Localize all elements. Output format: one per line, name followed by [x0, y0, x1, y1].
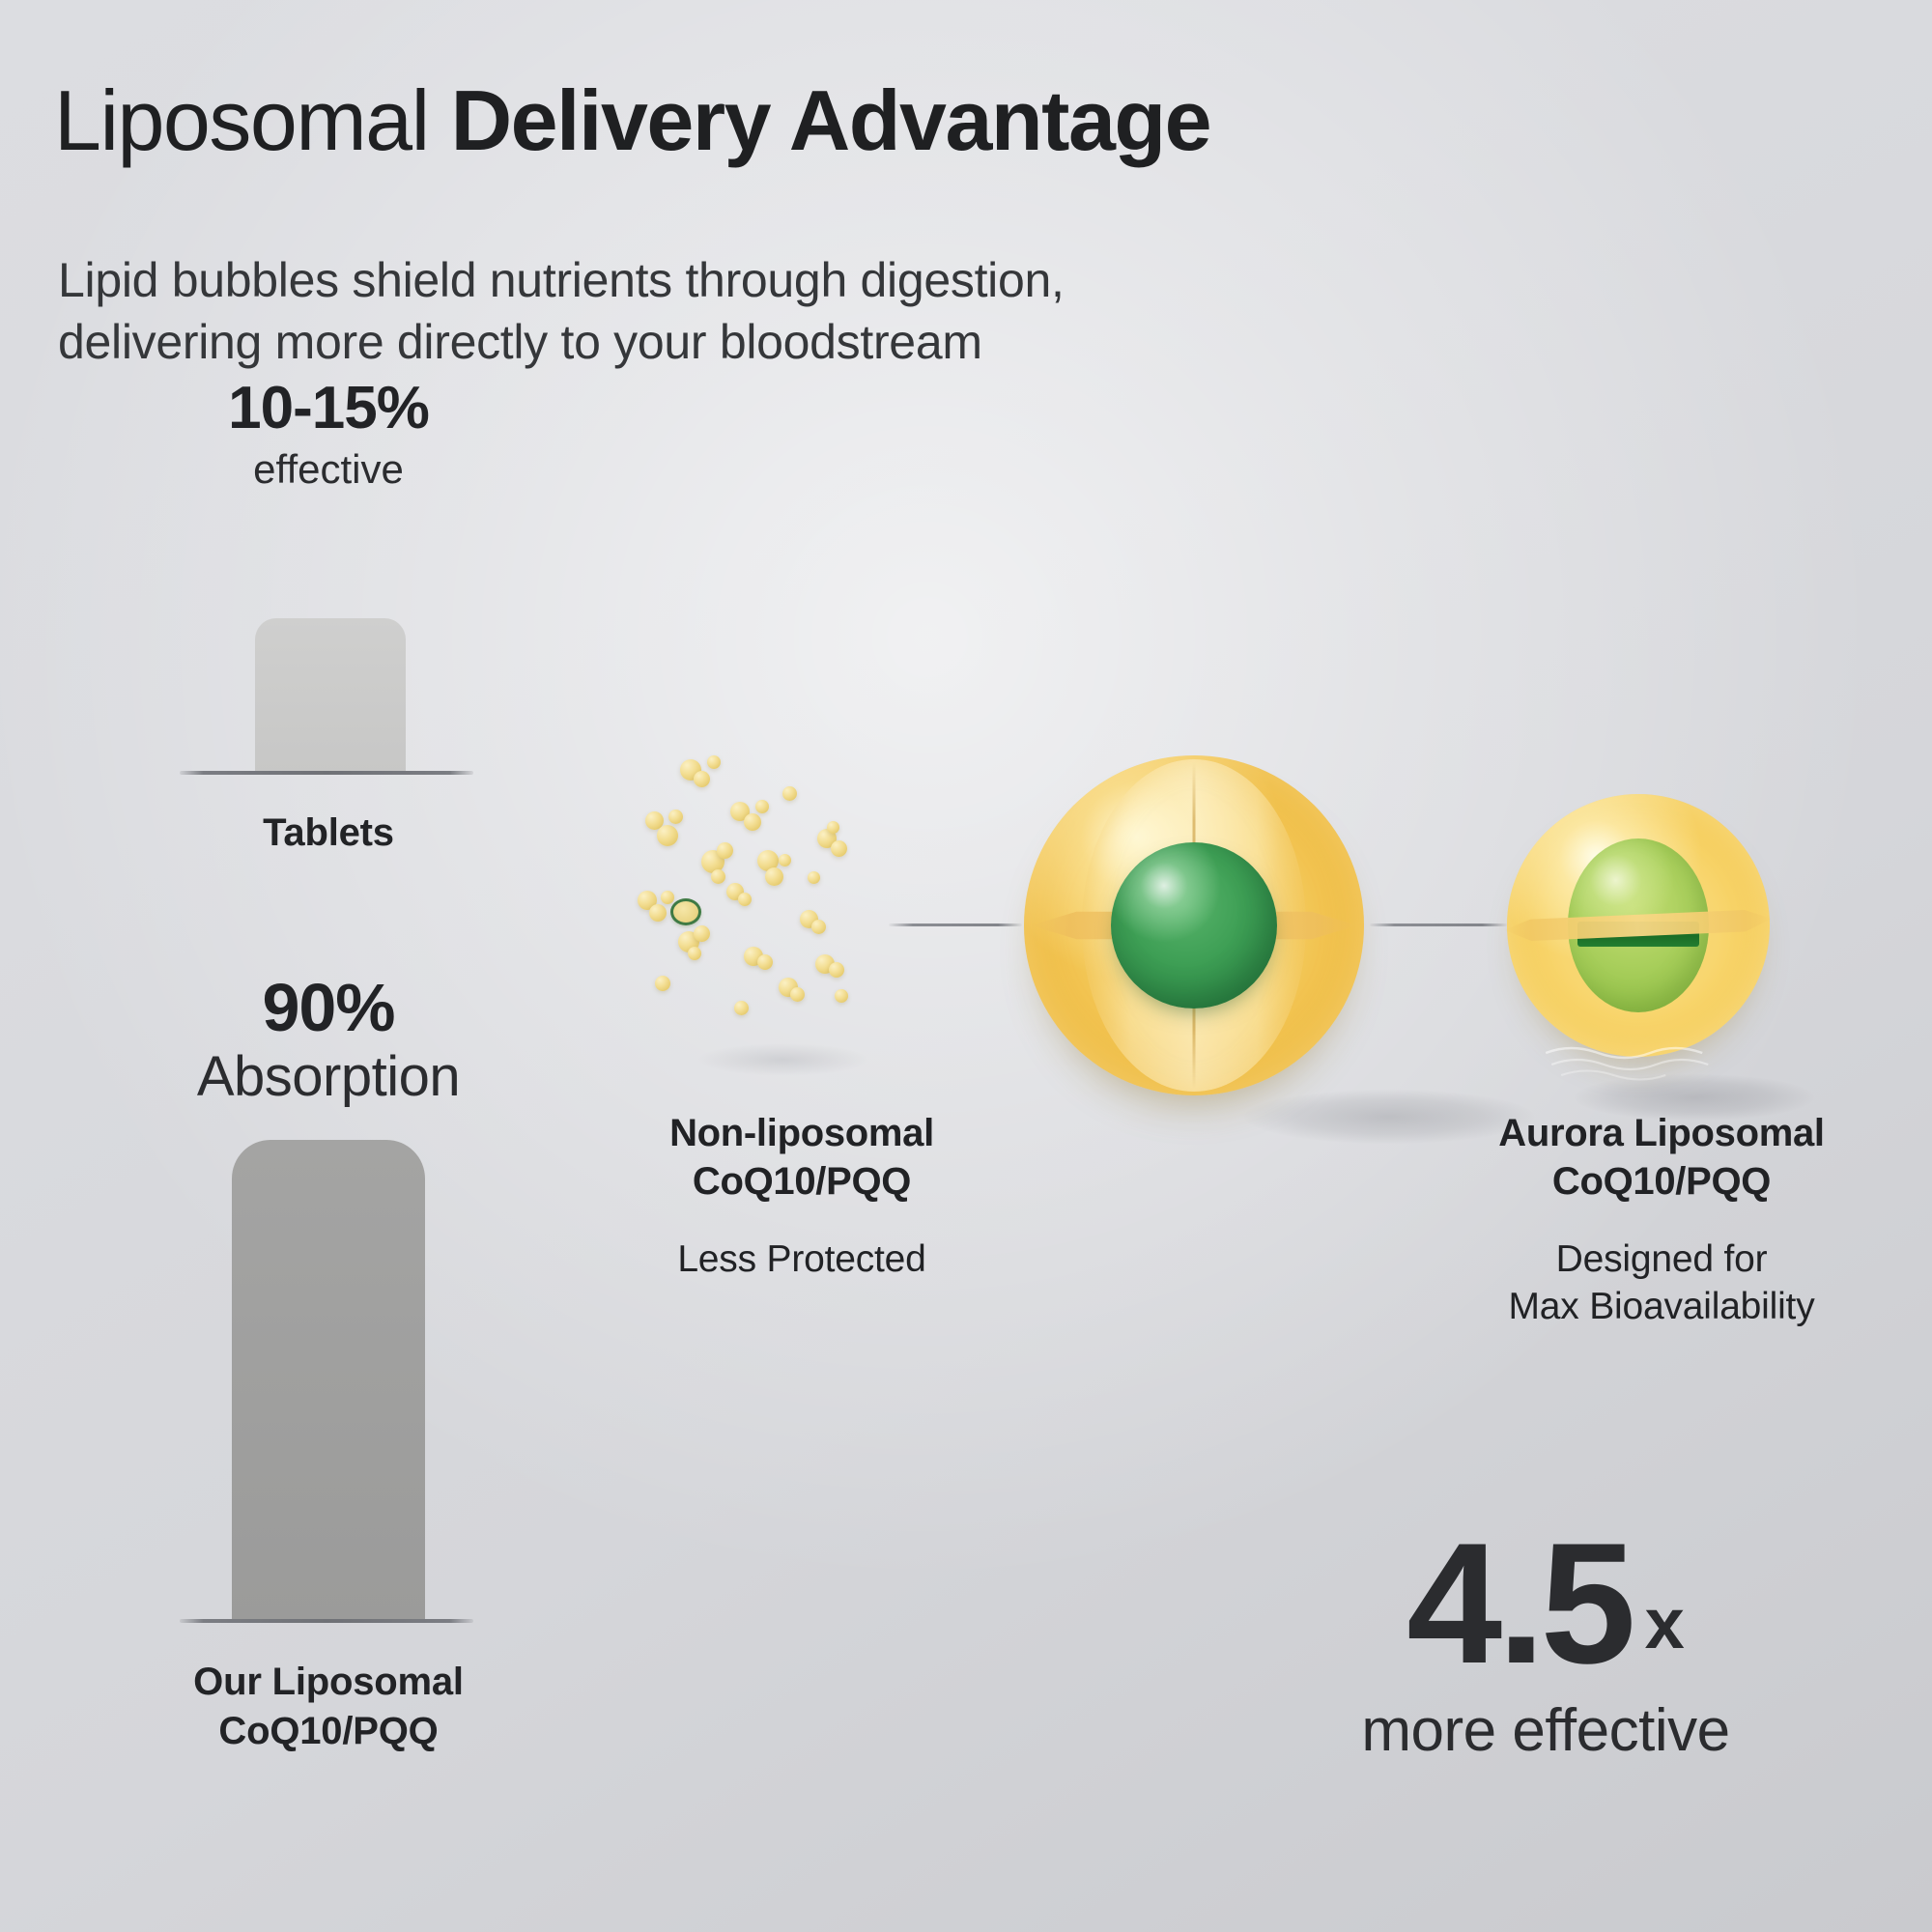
caption-aurora-heading: Aurora Liposomal CoQ10/PQQ: [1372, 1109, 1932, 1207]
caption-aurora-liposomal: Aurora Liposomal CoQ10/PQQ Designed for …: [1372, 1109, 1932, 1330]
liposomal-stat-value: 90%: [77, 974, 580, 1041]
caption-non-liposomal-body-line-1: Less Protected: [464, 1236, 1140, 1283]
bar-label-tablets-line-1: Tablets: [77, 810, 580, 856]
liposomal-stat-sublabel: Absorption: [77, 1043, 580, 1111]
caption-non-liposomal: Non-liposomal CoQ10/PQQ Less Protected: [464, 1109, 1140, 1283]
caption-non-liposomal-heading-line-1: Non-liposomal: [464, 1109, 1140, 1157]
liposome-green-core: [1111, 842, 1277, 1009]
effectiveness-row: 4.5 x: [1207, 1526, 1884, 1681]
liposomal-stat: 90% Absorption: [77, 974, 580, 1111]
caption-aurora-body-line-2: Max Bioavailability: [1372, 1283, 1932, 1330]
caption-aurora-body: Designed for Max Bioavailability: [1372, 1236, 1932, 1330]
connector-line-left: [889, 923, 1022, 926]
bar-label-liposomal-line-1: Our Liposomal: [77, 1658, 580, 1707]
infographic-canvas: Liposomal Delivery Advantage Lipid bubbl…: [0, 0, 1932, 1932]
bar-tablets: [255, 618, 406, 775]
caption-non-liposomal-heading-line-2: CoQ10/PQQ: [464, 1157, 1140, 1206]
absorption-bar-chart: 10-15% effective Tablets 90% Absorption …: [0, 0, 599, 1932]
effectiveness-number: 4.5: [1406, 1526, 1631, 1681]
partially-protected-particle-icon: [670, 898, 701, 925]
effectiveness-multiplier: x: [1645, 1588, 1685, 1681]
particles-shadow: [696, 1043, 869, 1076]
connector-line-right: [1370, 923, 1507, 926]
caption-non-liposomal-heading: Non-liposomal CoQ10/PQQ: [464, 1109, 1140, 1207]
effectiveness-caption: more effective: [1207, 1698, 1884, 1764]
bar-label-liposomal: Our Liposomal CoQ10/PQQ: [77, 1658, 580, 1756]
bar-label-liposomal-line-2: CoQ10/PQQ: [77, 1707, 580, 1756]
tablets-stat: 10-15% effective: [77, 379, 580, 496]
bar-baseline-tablets: [180, 771, 473, 775]
effectiveness-callout: 4.5 x more effective: [1207, 1526, 1884, 1764]
bar-liposomal: [232, 1140, 425, 1621]
caption-aurora-heading-line-2: CoQ10/PQQ: [1372, 1157, 1932, 1206]
bar-label-tablets: Tablets: [77, 810, 580, 856]
bar-baseline-liposomal: [180, 1619, 473, 1623]
scattered-particles-icon: [638, 753, 889, 1043]
liposome-capsule-icon: [1024, 755, 1364, 1095]
tablets-stat-value: 10-15%: [77, 379, 580, 439]
caption-aurora-heading-line-1: Aurora Liposomal: [1372, 1109, 1932, 1157]
tablets-stat-sublabel: effective: [77, 444, 580, 496]
caption-non-liposomal-body: Less Protected: [464, 1236, 1140, 1283]
sphere-wave-lines-icon: [1528, 1043, 1748, 1082]
caption-aurora-body-line-1: Designed for: [1372, 1236, 1932, 1283]
liposome-sphere-icon: [1507, 794, 1770, 1057]
